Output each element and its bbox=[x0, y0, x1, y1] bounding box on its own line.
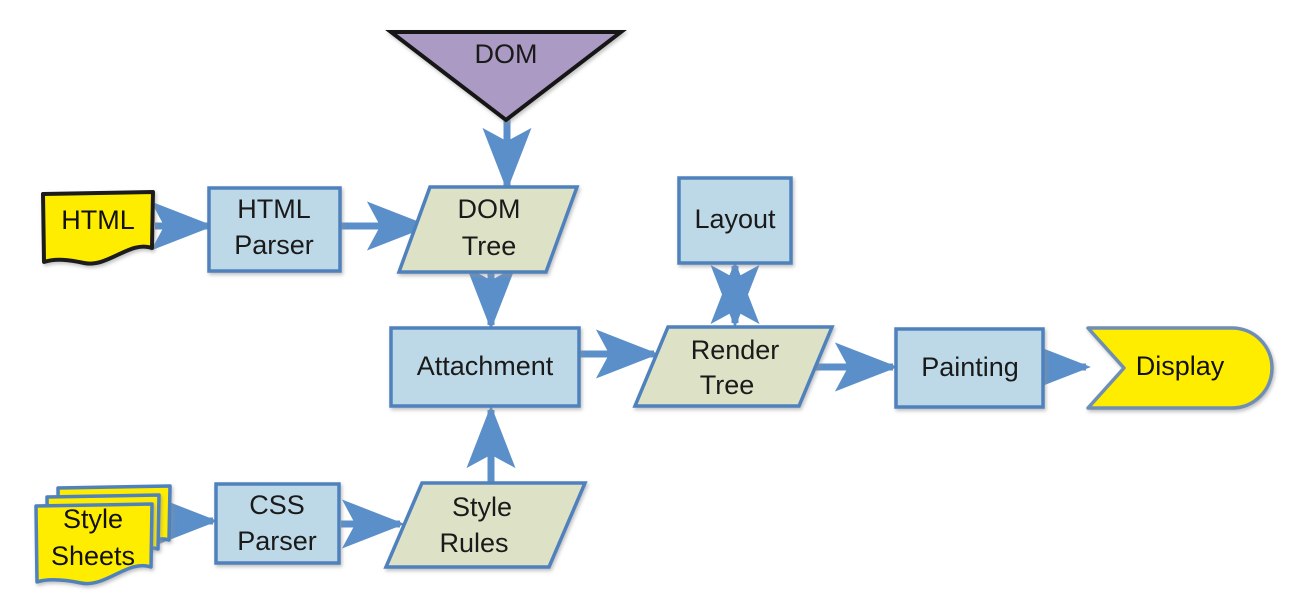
diagram-canvas: DOM HTML HTML Parser DOM Tree Layout Att… bbox=[0, 0, 1290, 615]
html-parser-label-line1: HTML bbox=[237, 194, 311, 224]
html-parser-label-line2: Parser bbox=[234, 230, 314, 260]
browser-rendering-flow-diagram: DOM HTML HTML Parser DOM Tree Layout Att… bbox=[0, 0, 1290, 615]
dom-tree-label-line2: Tree bbox=[462, 231, 517, 261]
render-tree-label-line1: Render bbox=[691, 335, 780, 365]
attachment-label: Attachment bbox=[417, 351, 554, 381]
style-rules-label-line1: Style bbox=[452, 492, 512, 522]
css-parser-label-line1: CSS bbox=[249, 490, 305, 520]
dom-label: DOM bbox=[475, 39, 538, 69]
css-parser-label-line2: Parser bbox=[237, 526, 317, 556]
edge-layer bbox=[155, 118, 1086, 524]
painting-label: Painting bbox=[921, 352, 1019, 382]
style-sheets-label-line2: Sheets bbox=[51, 541, 135, 571]
dom-tree-label-line1: DOM bbox=[458, 194, 521, 224]
display-label: Display bbox=[1136, 351, 1225, 381]
style-rules-label-line2: Rules bbox=[439, 528, 508, 558]
render-tree-label-line2: Tree bbox=[700, 370, 755, 400]
layout-label: Layout bbox=[694, 204, 776, 234]
style-sheets-label-line1: Style bbox=[63, 504, 123, 534]
html-label: HTML bbox=[61, 205, 135, 235]
